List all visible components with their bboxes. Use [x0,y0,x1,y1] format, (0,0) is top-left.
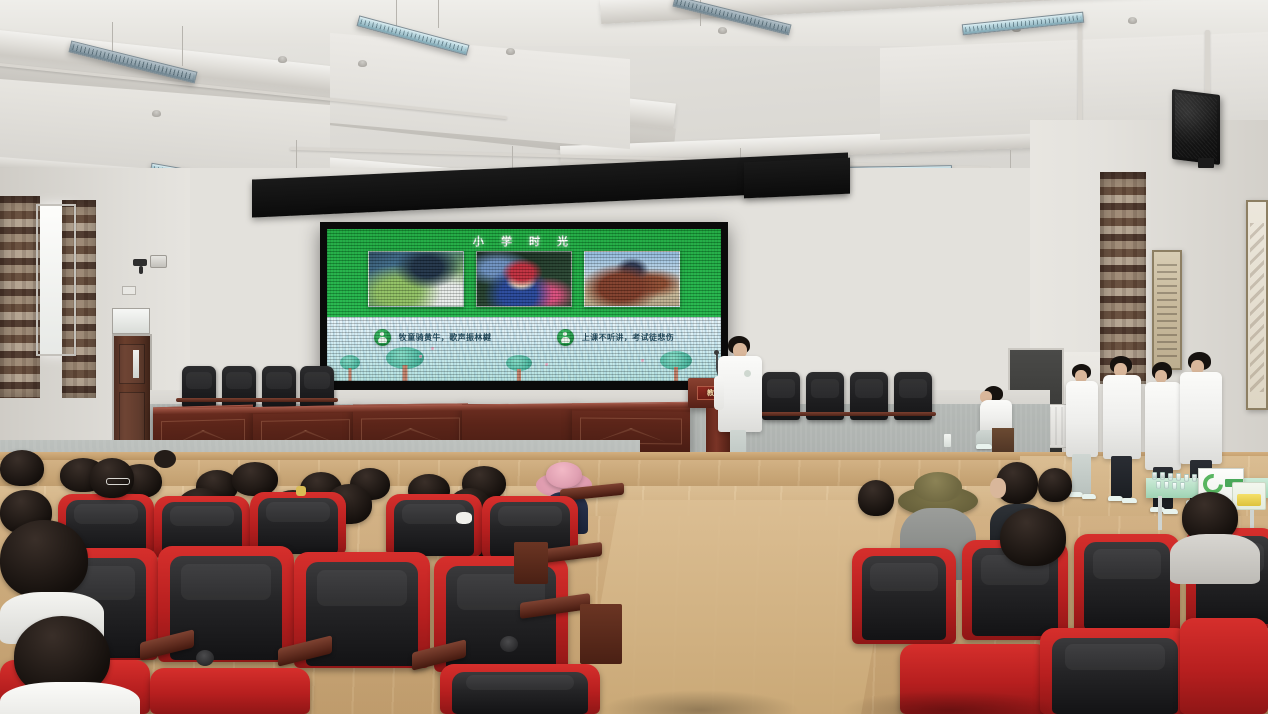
water-cup-9[interactable] [1172,482,1177,490]
slide-photo-3 [584,251,680,307]
audience-hair-bun-1 [154,450,176,468]
staff-member-2 [1100,356,1144,512]
scroll-ink-text [1157,264,1177,359]
chair-shadow-2 [840,690,1060,714]
stage-chair-8-arm [888,412,936,416]
audience-chair-r1-seatback[interactable] [862,556,946,640]
glasses-left-eyewear-icon [106,478,130,485]
slide-bullet-1: 牧童骑黄牛，歌声振林樾 [374,329,491,346]
staff-2-lab-coat [1103,375,1141,459]
audience-glasses-left [86,458,142,514]
wall-camera [133,259,147,266]
slide-photo-row [327,251,721,307]
tree-trunk [674,367,678,381]
light-hanger-2 [182,26,183,66]
slide-tree-3 [505,355,533,381]
audience-front-left-person-2 [0,616,140,714]
aisle-armrest-panel-1 [580,604,622,664]
aisle-armrest-panel-2 [514,542,548,584]
audience-chair-front-r3[interactable] [1180,618,1268,714]
slide-photo-1 [368,251,464,307]
slide-petal-1 [419,355,422,358]
front-left-1-head [0,520,88,598]
audience-chair-front-l2[interactable] [150,668,310,714]
door-panel-lower [119,392,145,444]
slide-bullet-1-text: 牧童骑黄牛，歌声振林樾 [399,332,491,343]
staff-1-lab-coat [1066,381,1098,457]
audience-hair-clip-white [456,512,472,524]
water-cup-2[interactable] [1160,472,1165,480]
left-window-frame [36,204,76,356]
slide-petal-3 [545,363,548,366]
water-cup-6[interactable] [1192,474,1197,482]
tree-trunk [349,368,352,381]
sprinkler-head-1 [152,110,161,117]
water-cup-4[interactable] [1176,473,1181,481]
stage-chair-4-arm [294,398,338,402]
audience-torso-r4 [1170,534,1260,584]
water-cup-5[interactable] [1184,474,1189,482]
light-hanger-4 [438,0,439,28]
person-green-circle-icon [374,329,391,346]
right-curtain [1100,172,1146,384]
slide-petal-2 [431,347,434,350]
slide-petal-4 [641,359,644,362]
slide-tree-1 [339,355,361,381]
audience-chair-front-r2-back[interactable] [1052,638,1178,714]
water-cup-3[interactable] [1168,473,1173,481]
audience-head-l9 [0,450,44,486]
staff-3-lab-coat [1145,382,1181,470]
front-left-2-torso [0,682,140,714]
chair-shadow-1 [600,690,800,714]
stage-chair-7-arm [844,412,892,416]
display-table-leg-left [1158,496,1162,530]
pink-hat-crown [546,462,582,488]
sprinkler-head-4 [718,27,727,34]
tree-trunk [403,365,408,381]
sprinkler-head-3 [358,60,367,67]
audience-head-r3 [1000,508,1066,566]
audience-head-l4 [232,462,278,496]
door-panel-upper [119,344,145,384]
slide-tree-4 [659,351,693,381]
staff-2-pants [1111,456,1132,498]
left-wall-switch-plate[interactable] [122,286,136,295]
water-cup-10[interactable] [1180,482,1185,490]
product-box[interactable] [1232,482,1266,510]
stage-bottle [944,434,951,447]
presenter-lab-coat [718,356,762,432]
olive-hat-crown [914,472,962,502]
audience-head-r1 [858,480,894,516]
right-wall-speaker-bracket [1198,158,1214,168]
wall-camera-mount [139,266,143,274]
presenter-coat-badge [744,370,751,377]
slide-lower-panel: 牧童骑黄牛，歌声振林樾 上课不听讲，考试徒悲伤 [327,317,721,381]
tree-trunk [517,369,521,381]
staff-3-shoe-right [1163,509,1178,514]
audience-hair-clip-yellow [296,486,306,496]
left-door-transom [112,308,150,334]
auditorium-scene: 小 学 时 光 牧童骑黄牛，歌声振林樾 上课不听讲，考试徒悲伤 [0,0,1268,714]
left-curtain-outer [0,196,40,398]
slide-bullet-row: 牧童骑黄牛，歌声振林樾 上课不听讲，考试徒悲伤 [327,329,721,346]
led-screen[interactable]: 小 学 时 光 牧童骑黄牛，歌声振林樾 上课不听讲，考试徒悲伤 [327,229,721,381]
slide-title: 小 学 时 光 [327,233,721,249]
wall-scroll-artwork-2 [1246,200,1268,410]
right-wall-speaker [1172,89,1220,165]
slide-bullet-2-text: 上课不听讲，考试徒悲伤 [582,332,674,343]
screen-top-valance-right [744,158,850,199]
light-hanger-9 [1010,150,1011,170]
water-cup-7[interactable] [1156,481,1161,489]
slide-photo-2 [476,251,572,307]
staff-2-shoe-right [1122,498,1137,503]
stage-chair-2-arm [216,398,260,402]
sprinkler-head-7 [1128,17,1137,24]
staff-1-shoe-left [1069,492,1083,497]
water-cup-1[interactable] [1152,472,1157,480]
audience-chair-a4-back[interactable] [394,500,474,556]
light-hanger-6 [296,140,297,168]
seated-man-shoe [976,444,992,449]
staff-1-pants [1072,454,1091,494]
stage-chair-1-arm [176,398,220,402]
door-glass-strip [133,350,139,378]
left-door[interactable] [112,334,152,450]
audience-cupholder-b1[interactable] [196,650,214,666]
slide-bullet-2: 上课不听讲，考试徒悲伤 [557,329,674,346]
person-green-circle-icon [557,329,574,346]
stage-chair-6-arm [800,412,848,416]
water-cup-8[interactable] [1164,481,1169,489]
staff-4-lab-coat [1180,372,1222,464]
slide-tree-2 [385,347,425,381]
sprinkler-head-2 [278,56,287,63]
presenter-arm-right [714,376,724,410]
speaker-mesh [1175,92,1217,161]
left-wall-speaker [150,255,167,268]
audience-chair-r3-seatback[interactable] [1084,542,1170,630]
audience-chair-front-l3-back[interactable] [452,672,588,714]
sprinkler-head-5 [506,48,515,55]
glasses-person-face [990,478,1006,498]
scroll-ink-pattern [1250,223,1264,392]
staff-1-shoe-right [1082,494,1096,499]
staff-2-shoe-left [1108,496,1123,501]
audience-cupholder-b2[interactable] [500,636,518,652]
audience-head-r2 [1038,468,1072,502]
